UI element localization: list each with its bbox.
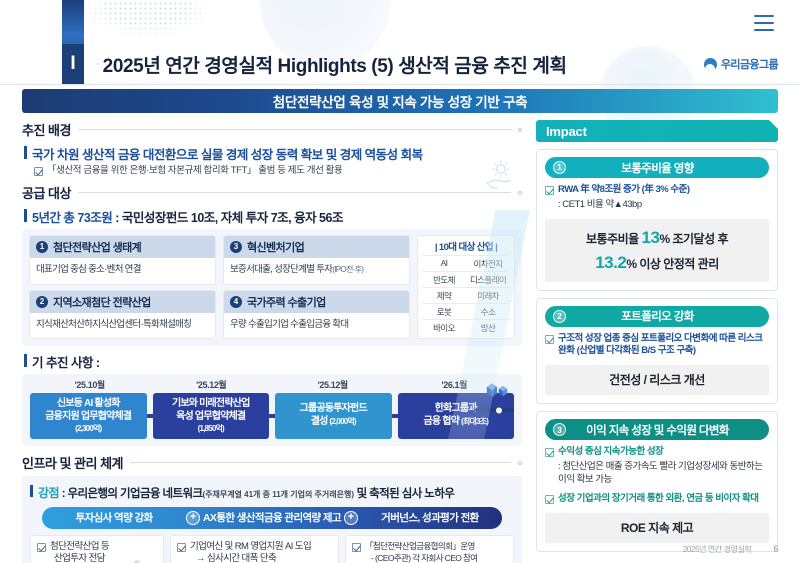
- supply-box-1-header: 1 첨단전략산업 생태계: [30, 236, 215, 258]
- supply-box-2-title: 지역소재첨단 전략산업: [53, 294, 151, 310]
- plus-icon: +: [186, 511, 200, 525]
- impact-card-2: 2 포트폴리오 강화 구조적 성장 업종 중심 포트폴리오 다변화에 따른 리스…: [536, 298, 778, 405]
- supply-box-1: 1 첨단전략산업 생태계 대표기업 중심 중소·벤처 연결: [29, 235, 216, 285]
- impact-card-1-sub: : CET1 비율 약▲43bp: [558, 199, 769, 212]
- impact-card-2-check: 구조적 성장 업종 중심 포트폴리오 다변화에 따른 리스크 완화 (산업별 다…: [545, 333, 769, 359]
- impact-card-1-pill: 1 보통주비율 영향: [545, 157, 769, 178]
- table-row: 바이오 방산: [422, 319, 510, 335]
- timeline-item-1-line2: 금융지원 업무협약체결: [33, 411, 144, 424]
- background-bullet: 국가 차원 생산적 금융 대전환으로 실물 경제 성장 동력 확보 및 경제 역…: [24, 144, 522, 163]
- infra-lead-text: : 우리은행의 기업금융 네트워크: [59, 488, 202, 500]
- supply-box-3-header: 3 혁신벤처기업: [224, 236, 409, 258]
- timeline-panel: '25.10월 '25.12월 '25.12월 '26.1월 신보등 AI 활성…: [22, 374, 522, 446]
- industry-cell: 이차전지: [466, 256, 510, 271]
- check-icon: [177, 543, 186, 552]
- impact-card-2-check-text: 구조적 성장 업종 중심 포트폴리오 다변화에 따른 리스크 완화 (산업별 다…: [558, 333, 769, 359]
- supply-box-4-text: 우량 수출입기업 수출입금융 확대: [230, 319, 348, 331]
- section-end-dot-icon: [518, 128, 522, 132]
- impact-column: Impact 1 보통주비율 영향 RWA 年 약8조원 증가 (年 3% 수준…: [536, 120, 778, 552]
- supply-box-2: 2 지역소재첨단 전략산업 지식재산처산하지식산업센터·특화채설매칭: [29, 290, 216, 340]
- footer-note: 2025년 연간 경영실적: [683, 544, 752, 555]
- infra-card-2: 기업여신 및 RM 영업지원 AI 도입 → 심사시간 대폭 단축 리스크 사전…: [170, 535, 339, 563]
- timeline-item-2-amount: (1,850억): [156, 424, 267, 434]
- section-rule: [130, 462, 511, 463]
- table-row: AI 이차전지: [422, 255, 510, 271]
- section-number-badge: I: [62, 44, 84, 84]
- bullet-bar-icon: [30, 485, 33, 497]
- impact-card-1-result-mid: % 조기달성 후: [659, 232, 728, 246]
- number-badge-icon: 3: [230, 241, 242, 253]
- infra-keyword: 강점: [38, 486, 59, 500]
- supply-panel: 1 첨단전략산업 생태계 대표기업 중심 중소·벤처 연결 3 혁신벤처기업: [22, 229, 522, 346]
- timeline-section: 기 추진 사항 : '25.10월 '25.12월 '25.12월 '26.1월…: [22, 352, 522, 446]
- timeline-item-3: 그룹공동투자펀드 결성 (2,000억): [275, 393, 392, 439]
- section-header-infra: 인프라 및 관리 체계: [22, 453, 522, 472]
- list-item: 기업여신 및 RM 영업지원 AI 도입 → 심사시간 대폭 단축: [177, 541, 332, 563]
- supply-box-2-text: 지식재산처산하지식산업센터·특화채설매칭: [36, 319, 191, 331]
- timeline-connector-icon: [392, 414, 398, 418]
- section-banner: 첨단전략산업 육성 및 지속 가능 성장 기반 구축: [22, 89, 778, 113]
- check-icon: [545, 448, 554, 457]
- timeline-date-2: '25.12월: [154, 378, 270, 391]
- title-separator-dot: ·: [96, 58, 100, 70]
- infra-pill-row: 투자심사 역량 강화 + AX통한 생산적금융 관리역량 제고 + 거버넌스, …: [42, 507, 502, 529]
- impact-card-3-check-1: 수익성 중심 지속가능한 성장: [545, 446, 769, 459]
- supply-total-amount: 5년간 총 73조원: [32, 211, 112, 225]
- section-title-supply: 공급 대상: [22, 183, 71, 202]
- impact-card-1-value-1: 13: [642, 228, 660, 247]
- impact-card-1-result-line-1: 보통주비율 13% 조기달성 후: [549, 225, 765, 251]
- timeline-date-1: '25.10월: [32, 378, 148, 391]
- timeline-dates: '25.10월 '25.12월 '25.12월 '26.1월: [30, 378, 514, 391]
- impact-card-1-check: RWA 年 약8조원 증가 (年 3% 수준): [545, 184, 769, 197]
- list-item: 「첨단전략산업금융협의회」운영 - (CEO주관) 각 자회사 CEO 참여: [352, 541, 507, 563]
- impact-card-1-value-2: 13.2: [595, 253, 626, 272]
- impact-card-2-pill: 2 포트폴리오 강화: [545, 306, 769, 327]
- bullet-bar-icon: [24, 146, 27, 159]
- infra-card-2-sub-1: → 심사시간 대폭 단축: [196, 553, 276, 563]
- background-subitem: 「생산적 금융을 위한 은행·보험 자본규제 합리화 TFT」 출범 등 제도 …: [34, 165, 522, 177]
- section-header-background: 추진 배경: [22, 120, 522, 139]
- timeline-heading: 기 추진 사항 :: [32, 352, 100, 371]
- table-row: 반도체 디스플레이: [422, 271, 510, 287]
- industry-cell: 반도체: [422, 272, 466, 287]
- impact-title: Impact: [546, 124, 587, 139]
- header-dot-pattern-decor: [88, 0, 208, 36]
- infra-card-3: 「첨단전략산업금융협의회」운영 - (CEO주관) 각 자회사 CEO 참여 자…: [345, 535, 514, 563]
- check-icon: [545, 335, 554, 344]
- supply-box-3-body: 보증서대출, 성장단계별 투자 (IPO전·후): [224, 258, 409, 282]
- impact-card-2-result: 건전성 / 리스크 개선: [545, 365, 769, 395]
- infra-pill-2: AX통한 생산적금융 관리역량 제고: [200, 510, 344, 525]
- timeline-item-4-amount: (최대3조): [461, 417, 488, 426]
- header-divider: [0, 84, 800, 85]
- target-industry-title: | 10대 대상 산업 |: [422, 239, 510, 255]
- table-row: 제약 미래차: [422, 287, 510, 303]
- impact-card-1-result-line-2: 13.2% 이상 안정적 관리: [549, 250, 765, 276]
- background-bullet-text: 국가 차원 생산적 금융 대전환으로 실물 경제 성장 동력 확보 및 경제 역…: [32, 144, 423, 163]
- infra-card-3-main-1: 「첨단전략산업금융협의회」운영: [365, 541, 475, 551]
- left-column: 추진 배경 국가 차원 생산적 금융 대전환으로 실물 경제 성장 동력 확보 …: [22, 120, 522, 563]
- impact-card-1-result: 보통주비율 13% 조기달성 후 13.2% 이상 안정적 관리: [545, 219, 769, 282]
- timeline-item-3-line1: 그룹공동투자펀드: [278, 403, 389, 416]
- infra-lead-note: (주채무계열 41개 중 11개 기업의 주거래은행): [202, 490, 354, 499]
- supply-lead: 5년간 총 73조원 : 국민성장펀드 10조, 자체 투자 7조, 융자 56…: [24, 207, 522, 226]
- impact-card-1-result-pre: 보통주비율: [586, 232, 642, 246]
- supply-box-3-note: (IPO전·후): [332, 265, 363, 275]
- impact-card-1: 1 보통주비율 영향 RWA 年 약8조원 증가 (年 3% 수준) : CET…: [536, 149, 778, 291]
- impact-card-2-label: 포트폴리오 강화: [566, 308, 761, 324]
- infra-card-3-sub-1: - (CEO주관) 각 자회사 CEO 참여: [371, 553, 478, 563]
- industry-cell: 미래차: [466, 288, 510, 303]
- impact-card-3-result-text: ROE 지속 제고: [549, 519, 765, 537]
- org-chart-icon: [117, 558, 157, 563]
- infra-card-1-sub: 산업투자 전담 심사조직 신설: [50, 553, 105, 563]
- impact-card-3-label: 이익 지속 성장 및 수익원 다변화: [566, 422, 761, 438]
- timeline-item-4-line2: 금융 협약: [423, 416, 461, 427]
- brand-logo: 우리금융그룹: [704, 56, 778, 72]
- infra-panel: 강점 : 우리은행의 기업금융 네트워크(주채무계열 41개 중 11개 기업의…: [22, 476, 522, 563]
- impact-card-3-result: ROE 지속 제고: [545, 513, 769, 543]
- supply-box-4-title: 국가주력 수출기업: [247, 294, 326, 310]
- supply-box-4: 4 국가주력 수출기업 우량 수출입기업 수출입금융 확대: [223, 290, 410, 340]
- page-number: 6: [773, 544, 778, 554]
- impact-card-1-label: 보통주비율 영향: [566, 160, 761, 176]
- slide-root: I · 2025년 연간 경영실적 Highlights (5) 생산적 금융 …: [0, 0, 800, 563]
- supply-target-grid: 1 첨단전략산업 생태계 대표기업 중심 중소·벤처 연결 3 혁신벤처기업: [29, 235, 410, 339]
- industry-cell: 수소: [466, 304, 510, 319]
- section-rule: [78, 192, 511, 193]
- supply-box-3-title: 혁신벤처기업: [247, 239, 304, 255]
- supply-box-2-header: 2 지역소재첨단 전략산업: [30, 291, 215, 313]
- corner-fold-icon: [769, 120, 778, 129]
- hamburger-icon[interactable]: [754, 15, 774, 31]
- impact-card-3-check-2-text: 성장 기업과의 장기거래 통한 외환, 연금 등 비이자 확대: [558, 493, 759, 506]
- supply-box-1-body: 대표기업 중심 중소·벤처 연결: [30, 258, 215, 282]
- supply-box-3: 3 혁신벤처기업 보증서대출, 성장단계별 투자 (IPO전·후): [223, 235, 410, 285]
- number-badge-icon: 4: [230, 296, 242, 308]
- brand-name: 우리금융그룹: [721, 56, 778, 72]
- industry-cell: 제약: [422, 288, 466, 303]
- hand-sun-decor-icon: [482, 158, 516, 192]
- timeline-connector-icon: [147, 414, 153, 418]
- check-icon: [34, 167, 43, 176]
- industry-cell: 디스플레이: [466, 272, 510, 287]
- section-title-background: 추진 배경: [22, 120, 71, 139]
- supply-box-1-text: 대표기업 중심 중소·벤처 연결: [36, 264, 141, 276]
- check-icon: [352, 543, 361, 552]
- woori-logo-icon: [704, 58, 717, 71]
- industry-cell: AI: [422, 256, 466, 271]
- timeline-item-2-line2: 육성 업무협약체결: [156, 411, 267, 424]
- impact-card-3-sub-1: : 첨단산업은 매출 증가속도 빨라 기업성장세와 동반하는 이익 확보 가능: [558, 461, 769, 487]
- section-end-dot-icon: [518, 461, 522, 465]
- infra-card-2-main-1: 기업여신 및 RM 영업지원 AI 도입: [190, 541, 311, 552]
- plus-icon: +: [344, 511, 358, 525]
- impact-card-3-pill: 3 이익 지속 성장 및 수익원 다변화: [545, 419, 769, 440]
- impact-card-2-result-text: 건전성 / 리스크 개선: [549, 371, 765, 389]
- impact-header: Impact: [536, 120, 778, 142]
- industry-cell: 방산: [466, 320, 510, 335]
- timeline-item-1: 신보등 AI 활성화 금융지원 업무협약체결 (2,300억): [30, 393, 147, 439]
- table-row: 로봇 수소: [422, 303, 510, 319]
- timeline-item-2-line1: 기보와 미래전략산업: [156, 398, 267, 411]
- timeline-item-1-line1: 신보등 AI 활성화: [33, 398, 144, 411]
- timeline-item-3-amount: (2,000억): [329, 417, 355, 426]
- timeline-boxes: 신보등 AI 활성화 금융지원 업무협약체결 (2,300억) 기보와 미래전략…: [30, 393, 514, 439]
- timeline-item-1-amount: (2,300억): [33, 424, 144, 434]
- number-badge-icon: 1: [553, 161, 566, 174]
- infra-cards: 첨단전략산업 등 산업투자 전담 심사조직 신설: [30, 535, 514, 563]
- supply-total-detail: : 국민성장펀드 10조, 자체 투자 7조, 융자 56조: [112, 211, 343, 225]
- timeline-item-2: 기보와 미래전략산업 육성 업무협약체결 (1,850억): [153, 393, 270, 439]
- footer: 2025년 연간 경영실적 6: [683, 544, 778, 555]
- check-icon: [545, 495, 554, 504]
- infra-lead-row: 강점 : 우리은행의 기업금융 네트워크(주채무계열 41개 중 11개 기업의…: [30, 483, 514, 502]
- background-subitem-text: 「생산적 금융을 위한 은행·보험 자본규제 합리화 TFT」 출범 등 제도 …: [47, 165, 342, 177]
- timeline-heading-row: 기 추진 사항 :: [24, 352, 522, 371]
- bullet-bar-icon: [24, 354, 27, 367]
- supply-box-3-text: 보증서대출, 성장단계별 투자: [230, 264, 332, 276]
- section-end-dot-icon: [518, 191, 522, 195]
- timeline-item-3-line2: 결성: [311, 416, 330, 427]
- impact-card-3: 3 이익 지속 성장 및 수익원 다변화 수익성 중심 지속가능한 성장 : 첨…: [536, 411, 778, 551]
- number-badge-icon: 2: [553, 310, 566, 323]
- bullet-bar-icon: [24, 209, 27, 222]
- supply-box-2-body: 지식재산처산하지식산업센터·특화채설매칭: [30, 313, 215, 337]
- supply-box-4-header: 4 국가주력 수출기업: [224, 291, 409, 313]
- page-title-row: I · 2025년 연간 경영실적 Highlights (5) 생산적 금융 …: [62, 44, 567, 84]
- impact-card-1-check-text: RWA 年 약8조원 증가 (年 3% 수준): [558, 184, 690, 197]
- supply-box-1-title: 첨단전략산업 생태계: [53, 239, 141, 255]
- check-icon: [545, 186, 554, 195]
- impact-card-3-check-1-text: 수익성 중심 지속가능한 성장: [558, 446, 663, 459]
- impact-card-3-check-2: 성장 기업과의 장기거래 통한 외환, 연금 등 비이자 확대: [545, 493, 769, 506]
- infra-card-1-main: 첨단전략산업 등: [50, 541, 109, 552]
- infra-lead-tail: 및 축적된 심사 노하우: [354, 488, 454, 500]
- page-title: 2025년 연간 경영실적 Highlights (5) 생산적 금융 추진 계…: [103, 51, 567, 78]
- number-badge-icon: 1: [36, 241, 48, 253]
- infra-pill-3: 거버넌스, 성과평가 전환: [358, 510, 502, 525]
- check-icon: [37, 543, 46, 552]
- target-industry-table: | 10대 대상 산업 | AI 이차전지 반도체 디스플레이 제약 미래차: [417, 235, 515, 339]
- supply-box-4-body: 우량 수출입기업 수출입금융 확대: [224, 313, 409, 337]
- section-header-supply: 공급 대상: [22, 183, 522, 202]
- number-badge-icon: 3: [553, 423, 566, 436]
- infra-pill-1: 투자심사 역량 강화: [42, 510, 186, 525]
- industry-cell: 바이오: [422, 320, 466, 335]
- industry-cell: 로봇: [422, 304, 466, 319]
- number-badge-icon: 2: [36, 296, 48, 308]
- cube-decor-icon: [480, 378, 514, 404]
- section-title-infra: 인프라 및 관리 체계: [22, 453, 123, 472]
- impact-card-1-result-post: % 이상 안정적 관리: [626, 257, 718, 271]
- timeline-tail-decor: [474, 409, 514, 412]
- infra-card-1: 첨단전략산업 등 산업투자 전담 심사조직 신설: [30, 535, 164, 563]
- section-rule: [78, 129, 511, 130]
- timeline-date-3: '25.12월: [275, 378, 391, 391]
